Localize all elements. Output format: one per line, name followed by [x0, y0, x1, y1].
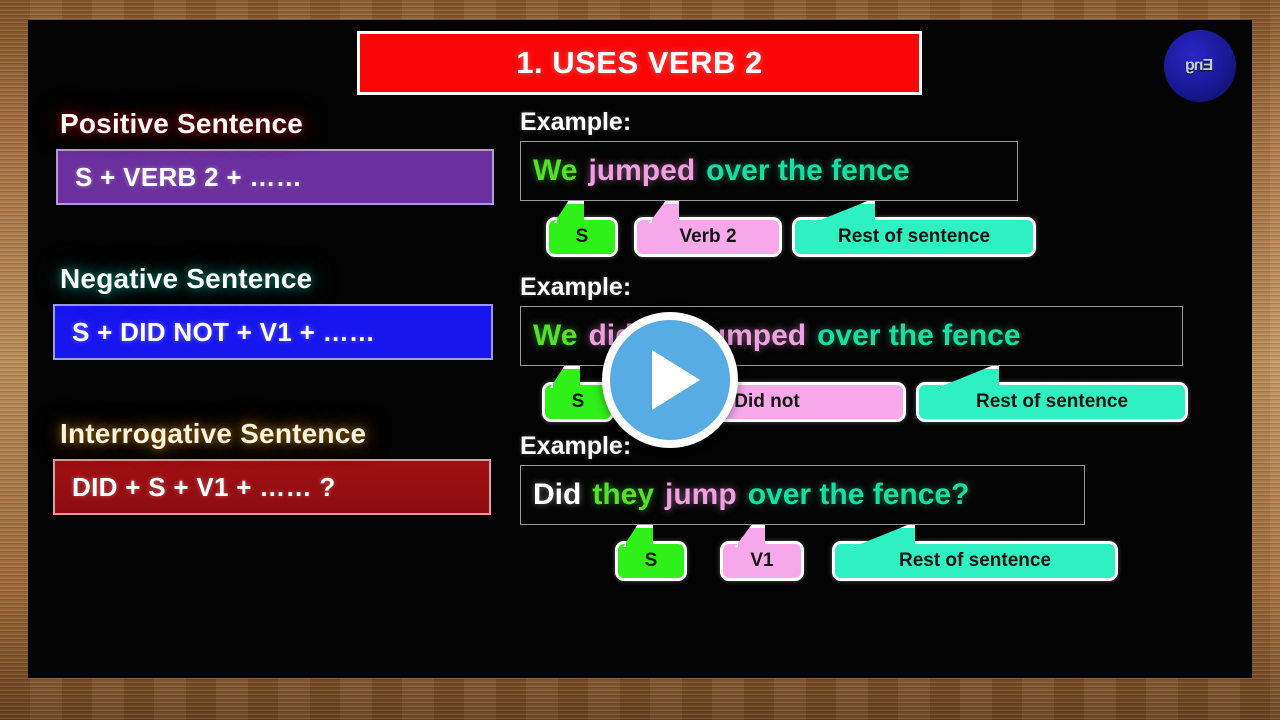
tag-pointer-icon [853, 525, 915, 547]
tag-label: S [572, 391, 585, 413]
tag-row-1: S Verb 2 Rest of sentence [520, 207, 1252, 259]
tag-pointer-icon [623, 525, 653, 547]
tag-subject-3: S [615, 541, 687, 581]
example-label-3: Example: [520, 432, 1252, 461]
tag-label: V1 [750, 550, 773, 572]
sentence-word-rest: over the fence [706, 154, 909, 188]
tag-pointer-icon [813, 201, 875, 223]
tag-pointer-icon [735, 525, 765, 547]
tag-label: Verb 2 [679, 226, 736, 248]
rule-formula-positive: S + VERB 2 + …… [56, 149, 494, 205]
sentence-word-verb: jump [665, 478, 737, 512]
slide-content: 1. USES VERB 2 Eng Positive Sentence S +… [28, 20, 1252, 678]
tag-pointer-icon [550, 366, 580, 388]
tag-label: Rest of sentence [899, 550, 1051, 572]
tag-label: Did not [734, 391, 799, 413]
tag-verb-3: V1 [720, 541, 804, 581]
sentence-word-verb: jumped [588, 154, 695, 188]
slide-title-banner: 1. USES VERB 2 [357, 31, 922, 95]
example-group-positive: Example: We jumped over the fence S Verb… [520, 108, 1252, 259]
rule-block-positive: Positive Sentence S + VERB 2 + …… [48, 108, 513, 205]
wooden-frame: 1. USES VERB 2 Eng Positive Sentence S +… [0, 0, 1280, 720]
tag-pointer-icon [937, 366, 999, 388]
tag-pointer-icon [649, 201, 679, 223]
logo-text: Eng [1186, 57, 1213, 75]
channel-logo-watermark: Eng [1164, 30, 1236, 102]
example-sentence-3: Did they jump over the fence? [520, 465, 1085, 525]
sentence-word-rest: over the fence? [748, 478, 970, 512]
tag-label: S [576, 226, 589, 248]
tag-label: S [645, 550, 658, 572]
example-label-2: Example: [520, 273, 1252, 302]
example-label-1: Example: [520, 108, 1252, 137]
sentence-word-rest: over the fence [817, 319, 1020, 353]
rule-heading-positive: Positive Sentence [48, 108, 513, 140]
tag-subject-1: S [546, 217, 618, 257]
rule-formula-negative: S + DID NOT + V1 + …… [53, 304, 493, 360]
rule-block-interrogative: Interrogative Sentence DID + S + V1 + ……… [48, 418, 513, 515]
rule-formula-interrogative: DID + S + V1 + …… ? [53, 459, 491, 515]
sentence-word-subject: they [592, 478, 654, 512]
tag-row-3: S V1 Rest of sentence [520, 531, 1252, 583]
tag-rest-1: Rest of sentence [792, 217, 1036, 257]
tag-rest-2: Rest of sentence [916, 382, 1188, 422]
rule-block-negative: Negative Sentence S + DID NOT + V1 + …… [48, 263, 513, 360]
play-button[interactable] [602, 312, 738, 448]
rule-heading-interrogative: Interrogative Sentence [48, 418, 513, 450]
tag-rest-3: Rest of sentence [832, 541, 1118, 581]
sentence-word-subject: We [533, 154, 577, 188]
sentence-word-did: Did [533, 478, 581, 512]
tag-pointer-icon [554, 201, 584, 223]
tag-label: Rest of sentence [976, 391, 1128, 413]
rule-heading-negative: Negative Sentence [48, 263, 513, 295]
rules-column: Positive Sentence S + VERB 2 + …… Negati… [48, 108, 513, 573]
example-sentence-1: We jumped over the fence [520, 141, 1018, 201]
page-title: 1. USES VERB 2 [516, 45, 762, 81]
tag-verb-1: Verb 2 [634, 217, 782, 257]
play-triangle-icon [652, 350, 700, 410]
sentence-word-subject: We [533, 319, 577, 353]
example-group-interrogative: Example: Did they jump over the fence? S… [520, 432, 1252, 583]
tag-label: Rest of sentence [838, 226, 990, 248]
